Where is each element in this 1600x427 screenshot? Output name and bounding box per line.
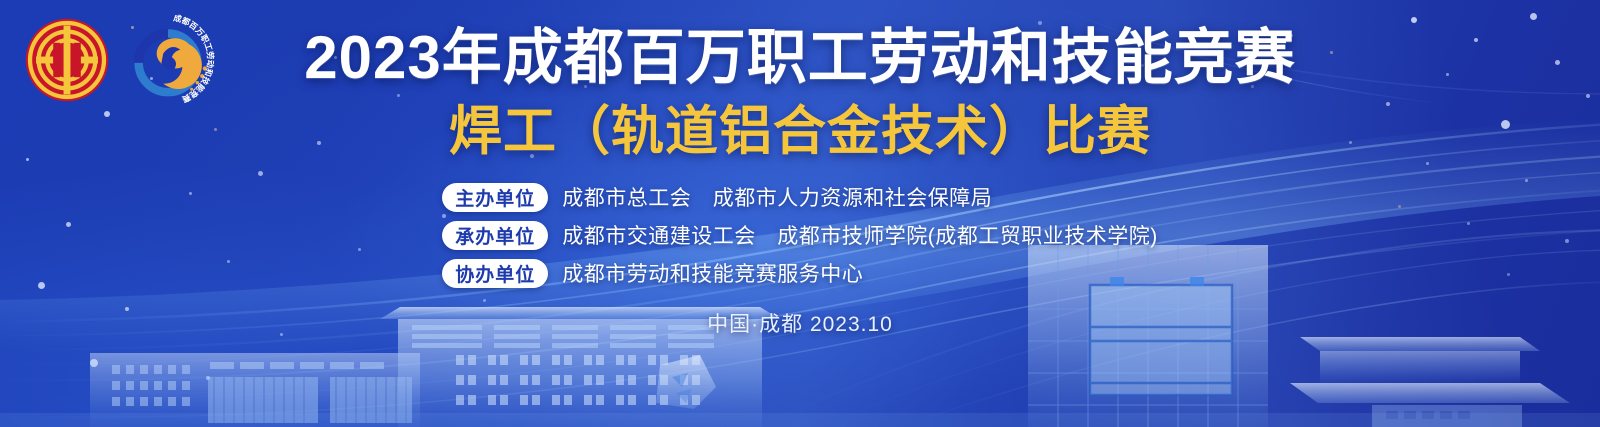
- organizer-row-undertaker: 承办单位 成都市交通建设工会 成都市技师学院(成都工贸职业技术学院): [442, 220, 1158, 250]
- organizer-label-host: 主办单位: [442, 183, 548, 212]
- organizer-label-coorganizer: 协办单位: [442, 259, 548, 288]
- organizer-row-coorganizer: 协办单位 成都市劳动和技能竞赛服务中心: [442, 258, 863, 288]
- logo-group: 成都百万职工劳动和技能竞赛: [24, 8, 220, 112]
- page-title: 2023年成都百万职工劳动和技能竞赛: [304, 26, 1295, 91]
- organizer-value-coorganizer: 成都市劳动和技能竞赛服务中心: [562, 258, 863, 288]
- event-banner: 成都百万职工劳动和技能竞赛 2023年成都百万职工劳动和技能竞赛 焊工（轨道铝合…: [0, 0, 1600, 427]
- acftu-emblem-icon: [24, 17, 110, 103]
- organizer-value-host: 成都市总工会 成都市人力资源和社会保障局: [562, 182, 992, 212]
- organizer-value-undertaker: 成都市交通建设工会 成都市技师学院(成都工贸职业技术学院): [562, 220, 1157, 250]
- organizer-label-undertaker: 承办单位: [442, 221, 548, 250]
- location-date-line: 中国·成都 2023.10: [707, 308, 893, 338]
- banner-content: 2023年成都百万职工劳动和技能竞赛 焊工（轨道铝合金技术）比赛 主办单位 成都…: [0, 0, 1600, 427]
- organizer-list: 主办单位 成都市总工会 成都市人力资源和社会保障局 承办单位 成都市交通建设工会…: [442, 182, 1158, 288]
- organizer-row-host: 主办单位 成都市总工会 成都市人力资源和社会保障局: [442, 182, 992, 212]
- page-subtitle: 焊工（轨道铝合金技术）比赛: [449, 103, 1151, 160]
- competition-emblem-icon: 成都百万职工劳动和技能竞赛: [116, 8, 220, 112]
